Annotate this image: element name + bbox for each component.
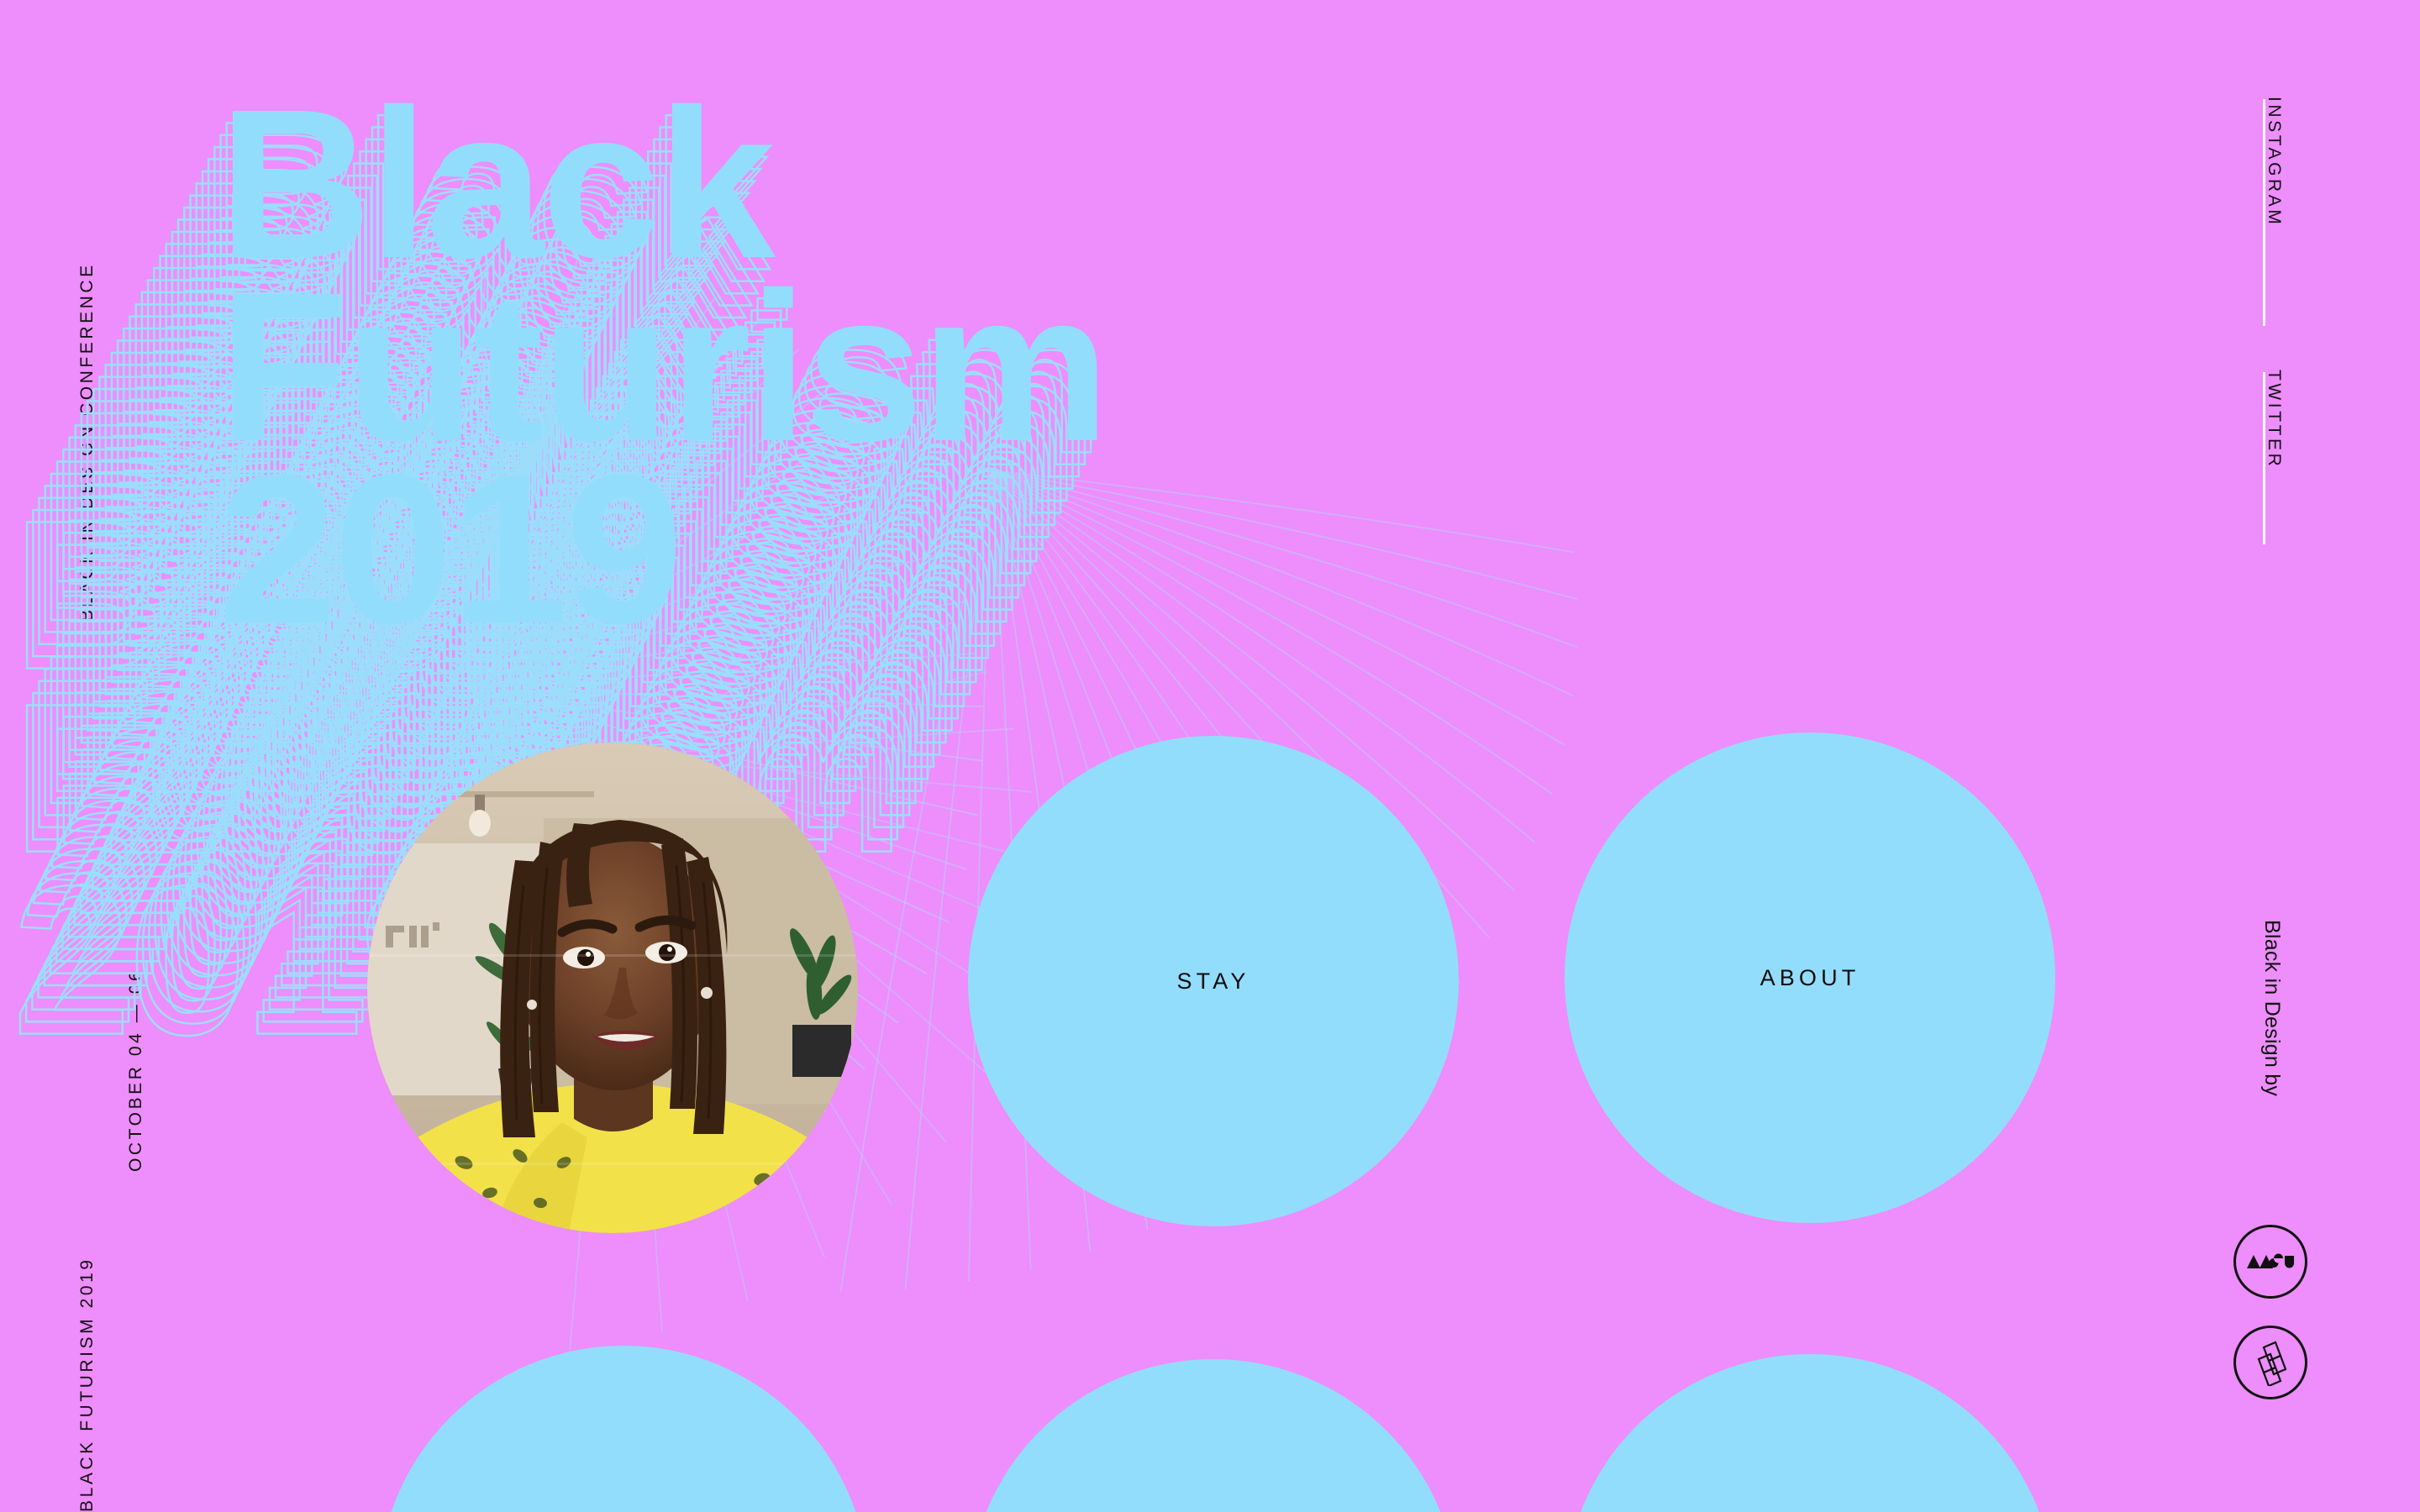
conference-label: BLACK IN DESIGN CONFERENCE [77, 262, 97, 622]
fan-arc [622, 582, 912, 756]
fan-arc [992, 470, 1577, 647]
nav-circle-stay-label: STAY [1176, 969, 1249, 995]
geometric-logo[interactable] [2233, 1326, 2307, 1399]
nav-circle-about-label: ABOUT [1760, 965, 1860, 991]
fan-arc [471, 689, 983, 761]
speaker-video-avatar[interactable] [367, 743, 858, 1233]
fan-arc [471, 382, 836, 689]
fan-arc [471, 552, 949, 689]
fan-arc [471, 689, 983, 706]
fan-arc [992, 470, 1577, 599]
page-root: Black Futurism 2019Black Futurism 2019Bl… [0, 0, 2420, 1512]
fan-arc [471, 252, 486, 689]
nav-circle-stay[interactable]: STAY [968, 736, 1459, 1226]
credit-label: Black in Design by [2260, 920, 2284, 1096]
bottom-marquee-label: BLACK FUTURISM 2019 [77, 1257, 97, 1512]
fan-arc [471, 278, 671, 689]
nav-circle-about[interactable]: ABOUT [1565, 732, 2055, 1223]
fan-arc [471, 419, 871, 689]
fan-arc [471, 297, 715, 689]
social-link-instagram[interactable]: INSTAGRAM [2264, 97, 2284, 227]
fan-arc [471, 460, 901, 689]
fan-arc [471, 264, 625, 689]
aasu-logo[interactable] [2233, 1225, 2307, 1299]
fan-arc [471, 255, 579, 689]
conference-dates-label: OCTOBER 04 — 06 [126, 969, 146, 1172]
fan-arc [969, 470, 992, 1282]
social-link-twitter[interactable]: TWITTER [2264, 370, 2284, 469]
